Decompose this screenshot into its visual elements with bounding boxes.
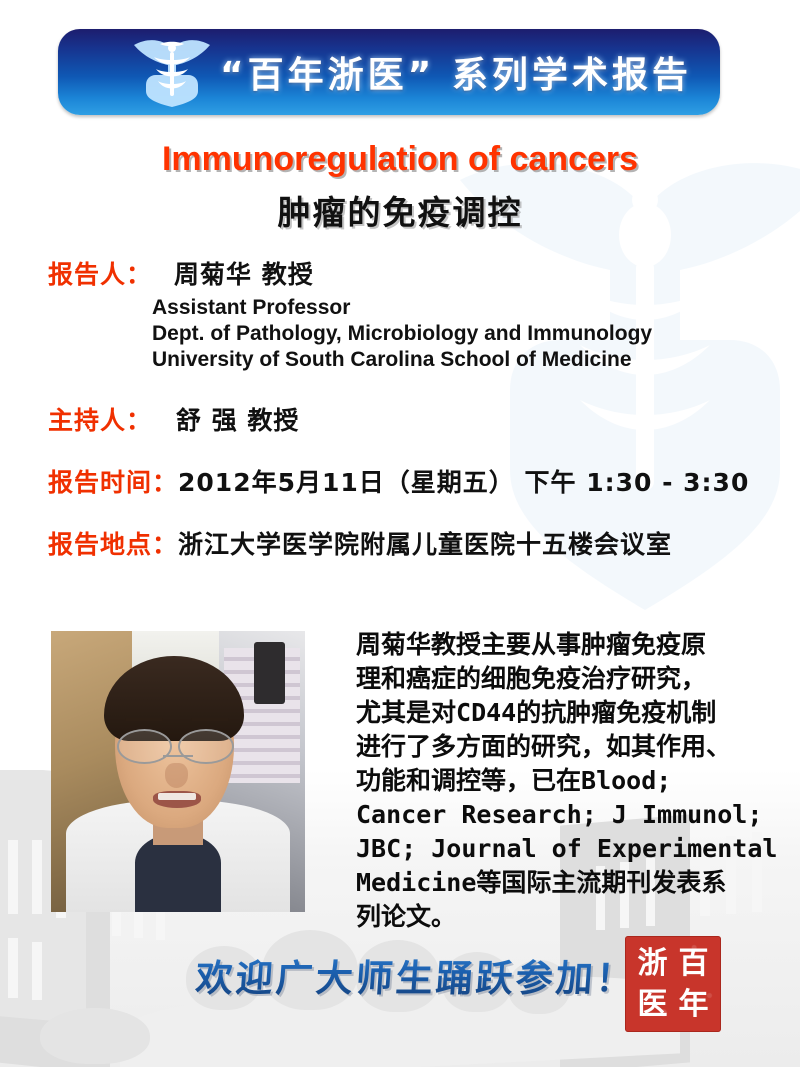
- welcome-text: 欢迎广大师生踊跃参加！: [194, 948, 638, 1002]
- bio-line: 理和癌症的细胞免疫治疗研究，: [356, 662, 780, 696]
- seal-char: 年: [673, 984, 714, 1025]
- banner-title: “百年浙医” 系列学术报告: [220, 46, 692, 98]
- seal-char: 医: [632, 984, 673, 1025]
- caduceus-emblem-icon: [130, 35, 216, 109]
- place-row: 报告地点： 浙江大学医学院附属儿童医院十五楼会议室: [48, 525, 768, 561]
- affiliation-line: Assistant Professor: [152, 295, 768, 321]
- time-value: 2012年5月11日（星期五） 下午 1:30 - 3:30: [178, 463, 749, 499]
- poster-root: “百年浙医” 系列学术报告 Immunoregulation of cancer…: [0, 0, 800, 1067]
- time-row: 报告时间： 2012年5月11日（星期五） 下午 1:30 - 3:30: [48, 463, 768, 499]
- header-banner: “百年浙医” 系列学术报告: [58, 29, 720, 115]
- photo-glasses-bridge: [163, 755, 193, 757]
- host-name: 舒 强 教授: [176, 401, 299, 437]
- seal-char: 百: [673, 943, 714, 984]
- time-label: 报告时间：: [48, 463, 178, 499]
- bio-line: 尤其是对CD44的抗肿瘤免疫机制: [356, 696, 780, 730]
- host-row: 主持人： 舒 强 教授: [48, 401, 768, 437]
- title-english: Immunoregulation of cancers: [0, 140, 800, 179]
- title-chinese: 肿瘤的免疫调控: [0, 186, 800, 234]
- speaker-biography: 周菊华教授主要从事肿瘤免疫原 理和癌症的细胞免疫治疗研究， 尤其是对CD44的抗…: [356, 628, 780, 934]
- bio-line: 功能和调控等，已在Blood;: [356, 764, 780, 798]
- host-label: 主持人：: [48, 401, 152, 437]
- place-value: 浙江大学医学院附属儿童医院十五楼会议室: [178, 525, 672, 561]
- bio-text: 等国际主流期刊发表系: [476, 868, 726, 897]
- speaker-name: 周菊华 教授: [174, 255, 314, 291]
- bio-text: 功能和调控等，已在: [356, 766, 581, 795]
- seal-char: 浙: [632, 943, 673, 984]
- photo-eyebrow-left: [125, 718, 163, 721]
- place-label: 报告地点：: [48, 525, 178, 561]
- speaker-label: 报告人：: [48, 255, 152, 291]
- bio-line: 周菊华教授主要从事肿瘤免疫原: [356, 628, 780, 662]
- bio-term-cd44: CD44: [456, 698, 516, 727]
- affiliation-line: University of South Carolina School of M…: [152, 347, 768, 373]
- bio-journal-blood: Blood;: [581, 766, 671, 795]
- photo-teeth: [158, 793, 196, 800]
- bio-journal-medicine: Medicine: [356, 868, 476, 897]
- affiliation-line: Dept. of Pathology, Microbiology and Imm…: [152, 321, 768, 347]
- photo-bg-equipment: [254, 642, 284, 704]
- speaker-affiliations: Assistant Professor Dept. of Pathology, …: [152, 295, 768, 373]
- event-info-block: 报告人： 周菊华 教授 Assistant Professor Dept. of…: [48, 255, 768, 561]
- bio-text: 尤其是对: [356, 698, 456, 727]
- photo-lens-left: [117, 729, 172, 764]
- bio-line: Medicine等国际主流期刊发表系: [356, 866, 780, 900]
- red-seal-stamp: 浙 百 医 年: [625, 936, 721, 1032]
- bio-journals-line: JBC; Journal of Experimental: [356, 832, 780, 866]
- photo-eyebrow-right: [191, 718, 229, 721]
- bio-line: 列论文。: [356, 900, 780, 934]
- speaker-row: 报告人： 周菊华 教授: [48, 255, 768, 291]
- photo-shirt: [135, 833, 221, 912]
- speaker-photo: [51, 631, 305, 912]
- bio-line: 进行了多方面的研究，如其作用、: [356, 730, 780, 764]
- bio-text: 的抗肿瘤免疫机制: [516, 698, 716, 727]
- photo-lens-right: [178, 729, 233, 764]
- bio-journals-line: Cancer Research; J Immunol;: [356, 798, 780, 832]
